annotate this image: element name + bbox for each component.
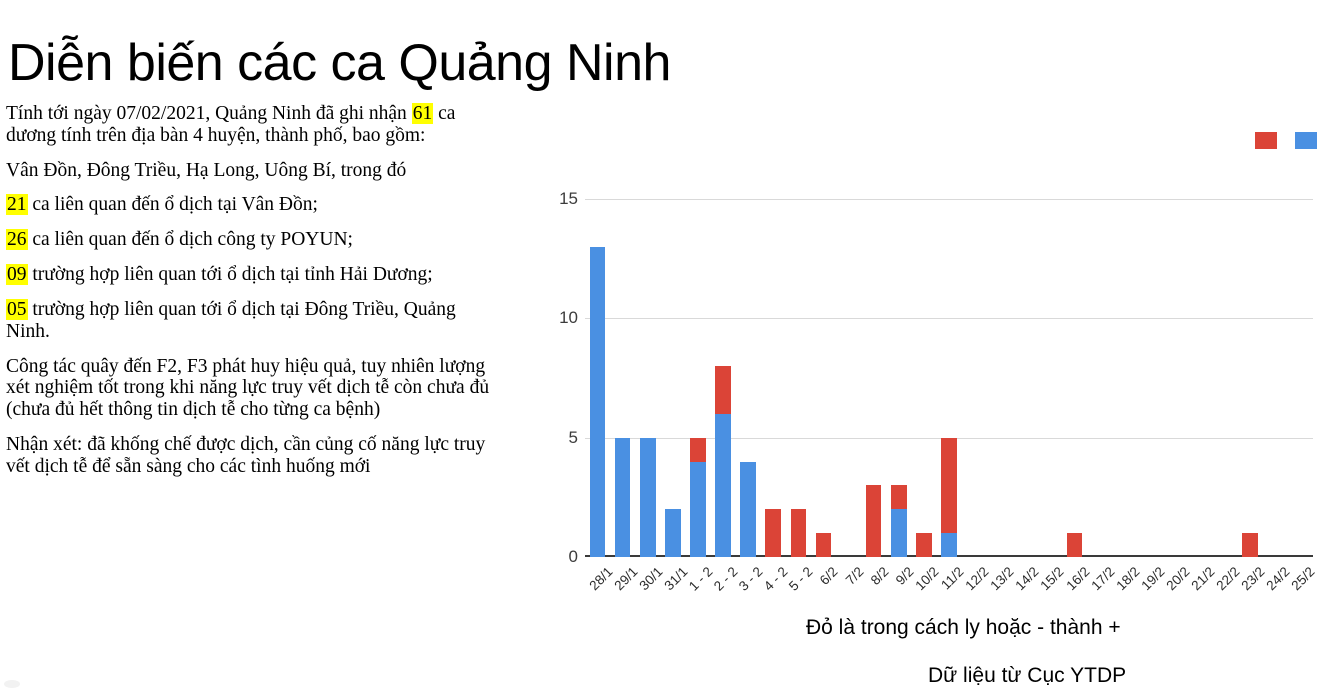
x-axis-tick-label: 20/2: [1163, 564, 1192, 593]
x-axis-tick-label: 5 - 2: [786, 564, 816, 594]
y-axis-tick-label: 10: [532, 308, 578, 328]
chart-plot-area: [585, 175, 1313, 557]
bar-segment-blue: [740, 462, 756, 558]
epidemic-bar-chart: 051015 28/129/130/131/11 - 22 - 23 - 24 …: [530, 120, 1320, 600]
x-axis-tick-label: 25/2: [1289, 564, 1318, 593]
bar-segment-blue: [665, 509, 681, 557]
x-axis-tick-label: 7/2: [842, 564, 866, 588]
bar-segment-red: [1242, 533, 1258, 557]
paragraph-p-localities: Vân Đồn, Đông Triều, Hạ Long, Uông Bí, t…: [6, 160, 502, 182]
chart-y-axis: 051015: [530, 175, 578, 557]
x-axis-tick-label: 30/1: [636, 564, 665, 593]
bar-column: [1067, 533, 1083, 557]
bar-segment-red: [816, 533, 832, 557]
x-axis-tick-label: 14/2: [1013, 564, 1042, 593]
bar-column: [1242, 533, 1258, 557]
text-run: Vân Đồn, Đông Triều, Hạ Long, Uông Bí, t…: [6, 160, 406, 181]
x-axis-tick-label: 31/1: [661, 564, 690, 593]
highlighted-count: 61: [412, 103, 434, 124]
text-run: ca liên quan đến ổ dịch tại Vân Đồn;: [28, 194, 318, 215]
bar-segment-blue: [640, 438, 656, 557]
y-axis-tick-label: 15: [532, 189, 578, 209]
bar-segment-blue: [941, 533, 957, 557]
legend-swatch-red-icon: [1255, 132, 1277, 149]
bar-column: [715, 366, 731, 557]
x-axis-tick-label: 21/2: [1188, 564, 1217, 593]
bar-segment-red: [690, 438, 706, 462]
paragraph-p-tracing: Công tác quây đến F2, F3 phát huy hiệu q…: [6, 356, 502, 421]
paragraph-p-vandon: 21 ca liên quan đến ổ dịch tại Vân Đồn;: [6, 194, 502, 216]
x-axis-tick-label: 9/2: [893, 564, 917, 588]
x-axis-tick-label: 19/2: [1138, 564, 1167, 593]
bar-column: [740, 462, 756, 558]
bar-segment-red: [791, 509, 807, 557]
text-run: trường hợp liên quan tới ổ dịch tại Đông…: [6, 299, 456, 342]
bar-column: [690, 438, 706, 557]
text-run: Nhận xét: đã khống chế được dịch, cần củ…: [6, 434, 485, 477]
bar-column: [916, 533, 932, 557]
text-run: Tính tới ngày 07/02/2021, Quảng Ninh đã …: [6, 103, 412, 124]
chart-legend: [890, 132, 1010, 154]
x-axis-tick-label: 29/1: [611, 564, 640, 593]
text-run: Công tác quây đến F2, F3 phát huy hiệu q…: [6, 356, 489, 421]
text-run: trường hợp liên quan tới ổ dịch tại tỉnh…: [28, 264, 433, 285]
highlighted-count: 21: [6, 194, 28, 215]
x-axis-tick-label: 1 - 2: [686, 564, 716, 594]
paragraph-p-summary: Tính tới ngày 07/02/2021, Quảng Ninh đã …: [6, 103, 502, 147]
x-axis-tick-label: 4 - 2: [761, 564, 791, 594]
x-axis-tick-label: 11/2: [938, 564, 966, 592]
x-axis-tick-label: 15/2: [1038, 564, 1067, 593]
x-axis-tick-label: 13/2: [988, 564, 1017, 593]
gridline: [585, 199, 1313, 200]
x-axis-tick-label: 12/2: [963, 564, 992, 593]
highlighted-count: 05: [6, 299, 28, 320]
bar-segment-red: [715, 366, 731, 414]
x-axis-tick-label: 28/1: [586, 564, 615, 593]
bar-segment-blue: [690, 462, 706, 558]
bar-column: [941, 438, 957, 557]
paragraph-p-haiduong: 09 trường hợp liên quan tới ổ dịch tại t…: [6, 264, 502, 286]
bar-segment-blue: [891, 509, 907, 557]
bar-segment-blue: [715, 414, 731, 557]
highlighted-count: 09: [6, 264, 28, 285]
paragraph-p-poyun: 26 ca liên quan đến ổ dịch công ty POYUN…: [6, 229, 502, 251]
bar-segment-red: [891, 485, 907, 509]
chart-source-note: Dữ liệu từ Cục YTDP: [928, 664, 1126, 688]
x-axis-tick-label: 22/2: [1214, 564, 1243, 593]
bar-column: [791, 509, 807, 557]
bar-segment-blue: [615, 438, 631, 557]
x-axis-tick-label: 16/2: [1063, 564, 1092, 593]
x-axis-tick-label: 23/2: [1239, 564, 1268, 593]
x-axis-tick-label: 8/2: [867, 564, 891, 588]
paragraph-p-remark: Nhận xét: đã khống chế được dịch, cần củ…: [6, 434, 502, 478]
y-axis-tick-label: 5: [532, 428, 578, 448]
bar-segment-blue: [590, 247, 606, 557]
bar-segment-red: [941, 438, 957, 534]
bar-column: [615, 438, 631, 557]
corner-artifact: [4, 680, 20, 688]
highlighted-count: 26: [6, 229, 28, 250]
bar-segment-red: [1067, 533, 1083, 557]
y-axis-tick-label: 0: [532, 547, 578, 567]
bar-segment-red: [765, 509, 781, 557]
bar-column: [590, 247, 606, 557]
x-axis-tick-label: 24/2: [1264, 564, 1293, 593]
x-axis-tick-label: 3 - 2: [736, 564, 766, 594]
bar-column: [765, 509, 781, 557]
text-run: ca liên quan đến ổ dịch công ty POYUN;: [28, 229, 353, 250]
x-axis-tick-label: 10/2: [912, 564, 941, 593]
paragraph-p-dongtrieu: 05 trường hợp liên quan tới ổ dịch tại Đ…: [6, 299, 502, 343]
page-title: Diễn biến các ca Quảng Ninh: [8, 33, 671, 93]
bar-segment-red: [916, 533, 932, 557]
gridline: [585, 318, 1313, 319]
x-axis-tick-label: 18/2: [1113, 564, 1142, 593]
x-axis-tick-label: 2 - 2: [711, 564, 741, 594]
legend-swatch-blue-icon: [1295, 132, 1317, 149]
bar-column: [891, 485, 907, 557]
chart-legend-note: Đỏ là trong cách ly hoặc - thành +: [806, 616, 1121, 640]
x-axis-tick-label: 17/2: [1088, 564, 1117, 593]
bar-segment-red: [866, 485, 882, 557]
body-text-block: Tính tới ngày 07/02/2021, Quảng Ninh đã …: [6, 103, 502, 478]
bar-column: [665, 509, 681, 557]
bar-column: [640, 438, 656, 557]
bar-column: [866, 485, 882, 557]
bar-column: [816, 533, 832, 557]
x-axis-tick-label: 6/2: [817, 564, 841, 588]
